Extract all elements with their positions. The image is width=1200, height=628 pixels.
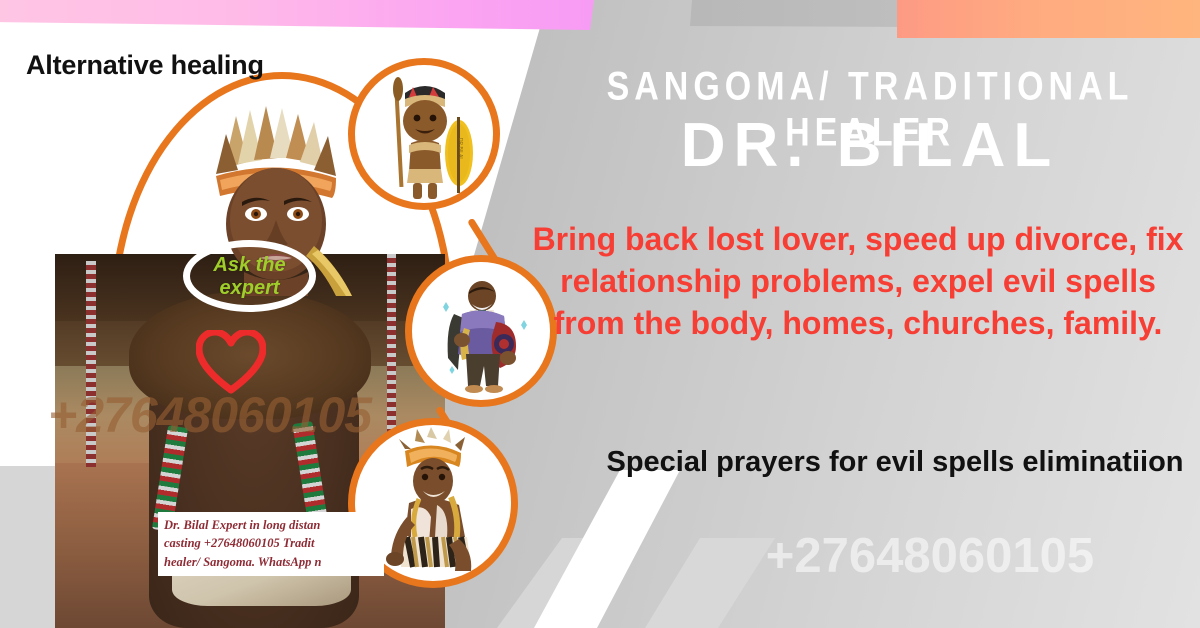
watermark-phone-number: +27648060105 (660, 528, 1200, 584)
zulu-warrior-icon: DR BILAL (355, 65, 495, 205)
red-heart-outline-icon (196, 330, 266, 394)
decor-band-orange (897, 0, 1200, 38)
special-prayers-text: Special prayers for evil spells eliminat… (600, 442, 1190, 482)
speech-bubble-text: Ask the expert (183, 254, 316, 300)
photo-caption-box: Dr. Bilal Expert in long distan casting … (158, 512, 384, 576)
services-text: Bring back lost lover, speed up divorce,… (528, 218, 1188, 345)
svg-text:DR BILAL: DR BILAL (457, 138, 463, 160)
speech-bubble: Ask the expert (183, 240, 316, 312)
page-title-alternative-healing: Alternative healing (26, 50, 264, 81)
caption-line-3: healer/ Sangoma. WhatsApp n (164, 553, 378, 571)
zulu-warrior-illustration-circle: DR BILAL (348, 58, 500, 210)
caption-line-1: Dr. Bilal Expert in long distan (164, 516, 378, 534)
caption-line-2: casting +27648060105 Tradit (164, 534, 378, 552)
poster-root: Alternative healing (0, 0, 1200, 628)
poster-title: DR. BILAL (560, 110, 1180, 181)
